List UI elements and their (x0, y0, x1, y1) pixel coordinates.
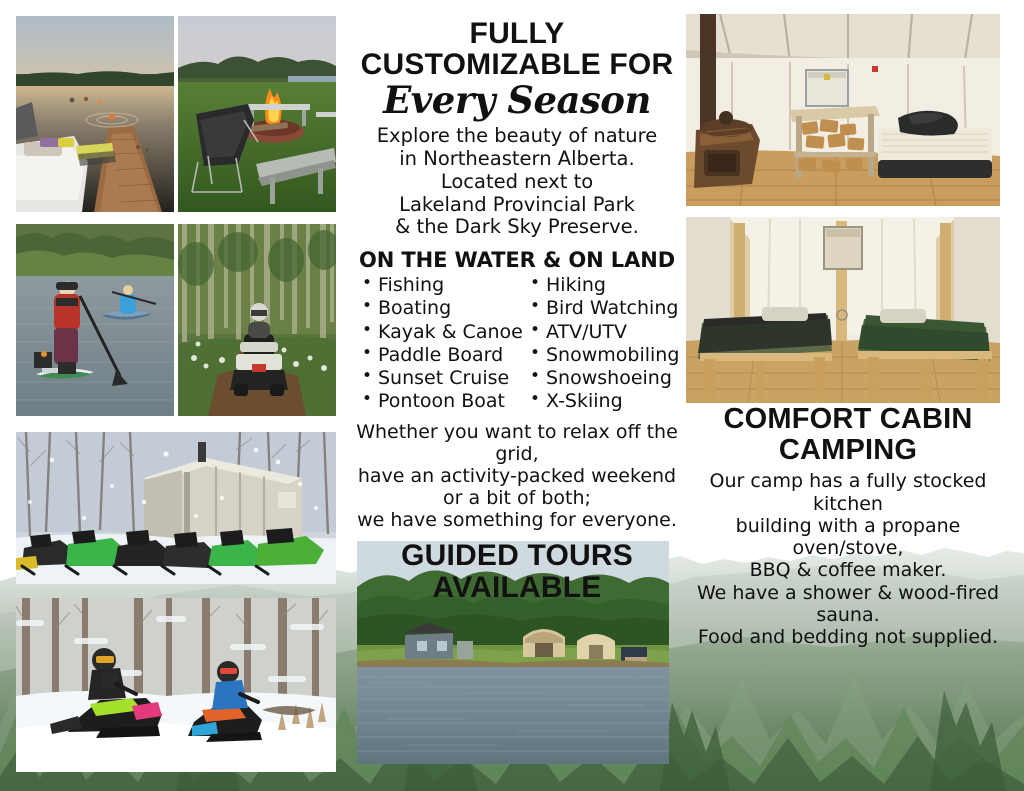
tagline-line: Whether you want to relax off the grid, (352, 421, 682, 465)
headline-line-1: FULLY (352, 18, 682, 49)
list-item: Snowshoeing (528, 367, 682, 390)
list-item: Hiking (528, 274, 682, 297)
photo-atv-forest-trail (178, 224, 336, 416)
list-item: X-Skiing (528, 390, 682, 413)
activities-list-land: Hiking Bird Watching ATV/UTV Snowmobilin… (528, 274, 682, 413)
list-item: Fishing (360, 274, 528, 297)
list-item: Paddle Board (360, 344, 528, 367)
photo-paddleboard-kayak (16, 224, 174, 416)
intro-line: in Northeastern Alberta. (352, 148, 682, 171)
list-item: Bird Watching (528, 297, 682, 320)
intro-paragraph: Explore the beauty of nature in Northeas… (352, 125, 682, 239)
activities-lists: Fishing Boating Kayak & Canoe Paddle Boa… (352, 274, 682, 413)
tours-line-1: GUIDED TOURS (352, 540, 682, 571)
intro-line: Explore the beauty of nature (352, 125, 682, 148)
list-item: Sunset Cruise (360, 367, 528, 390)
photo-snowmobiling-riders (16, 598, 336, 772)
activities-list-water: Fishing Boating Kayak & Canoe Paddle Boa… (360, 274, 528, 413)
tagline-paragraph: Whether you want to relax off the grid, … (352, 421, 682, 531)
center-text-column: FULLY CUSTOMIZABLE FOR Every Season Expl… (352, 0, 682, 540)
tours-line-2: AVAILABLE (352, 572, 682, 603)
photo-snowmobiles-wall-tent (16, 432, 336, 584)
tagline-line: have an activity-packed weekend (352, 465, 682, 487)
list-item: ATV/UTV (528, 321, 682, 344)
cabin-body-line: We have a shower & wood-fired sauna. (678, 582, 1018, 626)
script-subtitle: Every Season (352, 82, 682, 120)
cabin-body-line: BBQ & coffee maker. (678, 559, 1018, 581)
activities-heading: ON THE WATER & ON LAND (352, 248, 682, 272)
list-item: Pontoon Boat (360, 390, 528, 413)
list-item: Kayak & Canoe (360, 321, 528, 344)
photo-tent-interior-beds (686, 217, 1000, 403)
cabin-heading-line-2: CAMPING (678, 435, 1018, 466)
list-item: Snowmobiling (528, 344, 682, 367)
comfort-cabin-body: Our camp has a fully stocked kitchen bui… (678, 470, 1018, 648)
page-title: FULLY CUSTOMIZABLE FOR (352, 18, 682, 80)
right-text-column: COMFORT CABIN CAMPING Our camp has a ful… (678, 404, 1018, 648)
cabin-body-line: Food and bedding not supplied. (678, 626, 1018, 648)
tagline-line: or a bit of both; (352, 487, 682, 509)
cabin-body-line: building with a propane oven/stove, (678, 515, 1018, 559)
cabin-body-line: Our camp has a fully stocked kitchen (678, 470, 1018, 514)
brochure-page: FULLY CUSTOMIZABLE FOR Every Season Expl… (0, 0, 1024, 791)
photo-dock-sunset-pontoon (16, 16, 174, 212)
guided-tours-heading: GUIDED TOURS AVAILABLE (352, 540, 682, 602)
photo-campfire-lawn-chairs (178, 16, 336, 212)
list-item: Boating (360, 297, 528, 320)
headline-line-2: CUSTOMIZABLE FOR (352, 49, 682, 80)
cabin-heading-line-1: COMFORT CABIN (678, 404, 1018, 435)
tagline-line: we have something for everyone. (352, 509, 682, 531)
intro-line: & the Dark Sky Preserve. (352, 216, 682, 239)
photo-tent-interior-stove (686, 14, 1000, 206)
intro-line: Located next to (352, 171, 682, 194)
intro-line: Lakeland Provincial Park (352, 194, 682, 217)
comfort-cabin-heading: COMFORT CABIN CAMPING (678, 404, 1018, 465)
